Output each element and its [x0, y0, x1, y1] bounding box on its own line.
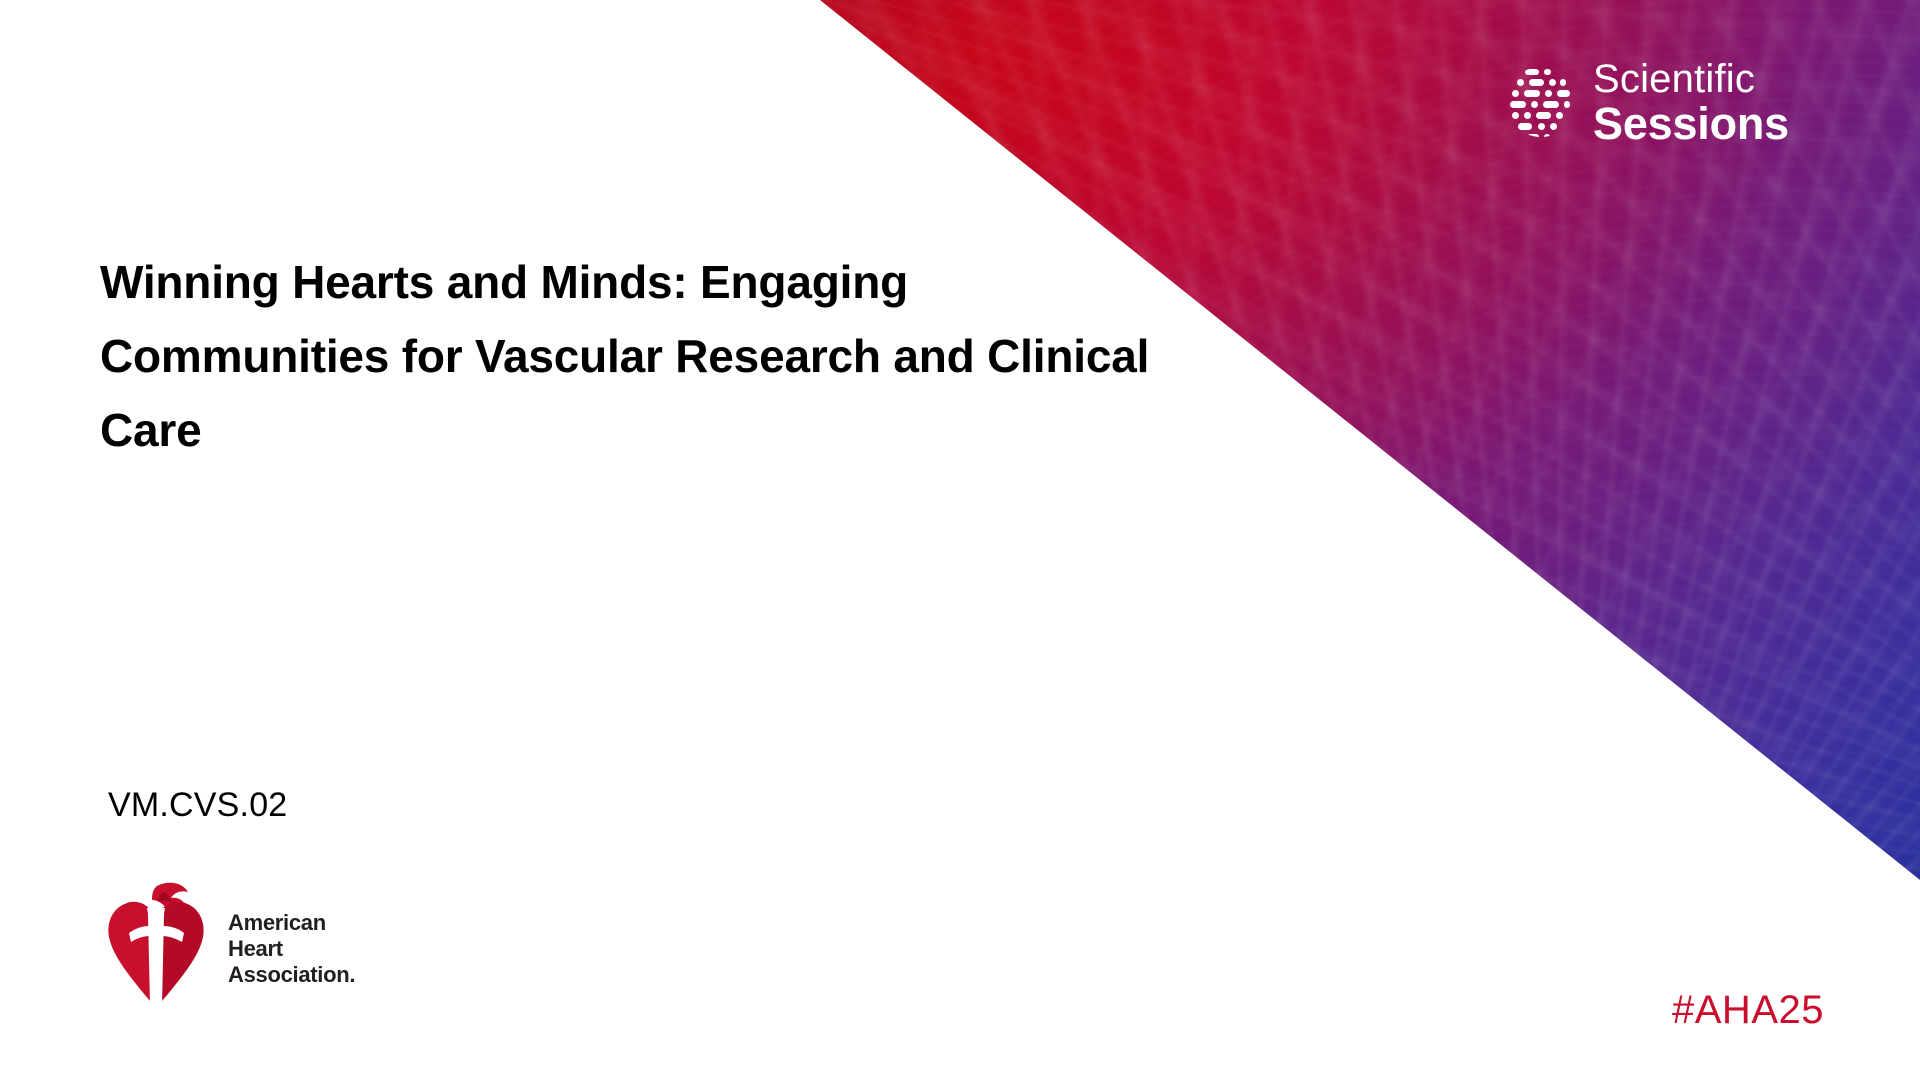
presentation-slide: Scientific Sessions Winning Hearts and M…: [0, 0, 1920, 1080]
aha-wordmark-line-2: Heart: [228, 936, 355, 962]
scientific-sessions-line-2: Sessions: [1593, 101, 1789, 146]
session-code: VM.CVS.02: [108, 786, 287, 825]
aha-wordmark: American Heart Association.: [228, 910, 355, 988]
dotted-globe-icon: [1503, 56, 1579, 148]
scientific-sessions-logo: Scientific Sessions: [1503, 56, 1789, 148]
aha-wordmark-line-3: Association.: [228, 962, 355, 988]
aha-wordmark-line-1: American: [228, 910, 355, 936]
event-hashtag: #AHA25: [1672, 988, 1824, 1033]
slide-title: Winning Hearts and Minds: Engaging Commu…: [100, 245, 1150, 467]
american-heart-association-logo: American Heart Association.: [100, 878, 355, 1020]
heart-torch-icon: [100, 878, 212, 1020]
scientific-sessions-wordmark: Scientific Sessions: [1593, 59, 1789, 146]
scientific-sessions-line-1: Scientific: [1593, 59, 1789, 99]
